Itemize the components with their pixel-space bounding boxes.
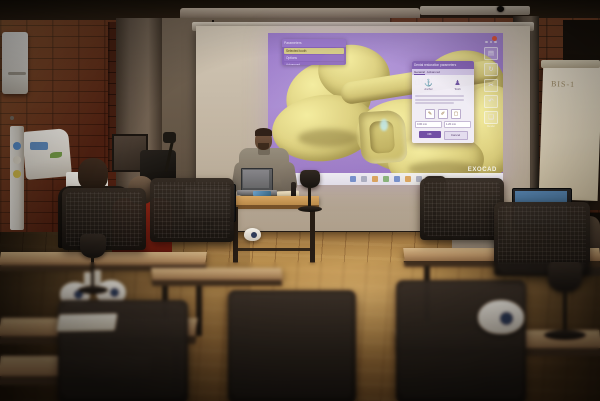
parameters-row-selected[interactable]: Selected tooth <box>284 48 344 54</box>
dialog-description-text <box>412 94 474 107</box>
shape-icon[interactable]: ▢ <box>451 109 461 119</box>
rotate-icon[interactable]: ↻ <box>484 63 498 76</box>
headset-eyepiece-icon <box>500 312 513 325</box>
desk-lamp-shade <box>80 234 106 258</box>
presenter-desk-crossbar <box>233 248 315 251</box>
offset-field[interactable]: 1.20 mm <box>444 121 471 128</box>
chair <box>150 178 234 242</box>
parameters-panel-title: Parameters <box>282 39 346 47</box>
save-icon[interactable]: ▤ <box>484 47 498 60</box>
dialog-icon-row: ⚓ Anchor ♟ Tooth <box>412 75 474 94</box>
projected-software-window: adv Parameters Selected tooth Options Ad… <box>268 33 503 185</box>
model-specular-highlight <box>380 119 388 131</box>
flipchart-clip <box>541 60 600 68</box>
toolbar-drag-handle[interactable] <box>485 41 496 43</box>
white-equipment-cover <box>22 128 72 180</box>
taskbar-icon[interactable] <box>361 176 367 182</box>
classroom-scene: adv Parameters Selected tooth Options Ad… <box>0 0 600 401</box>
flipchart-handwriting: BIS-1 <box>551 79 593 90</box>
taskbar-icon[interactable] <box>405 176 411 182</box>
student-dark-jacket-head <box>78 158 108 190</box>
desk-lamp-shade <box>548 262 582 292</box>
presenter-hair <box>255 128 272 136</box>
chair <box>420 178 504 240</box>
ceiling-rail <box>420 6 530 15</box>
chair <box>228 290 356 401</box>
table-edge <box>152 280 283 286</box>
presenter-desk-leg-right <box>310 207 315 263</box>
parameters-row-advanced[interactable]: Advanced <box>284 62 344 65</box>
scissors-icon[interactable]: ✂ <box>484 79 498 92</box>
ceiling-camera-icon <box>497 6 504 12</box>
taskbar-icon[interactable] <box>372 176 378 182</box>
desk-cup <box>84 272 91 286</box>
vertical-toolbar: ▤ ↻ ✂ ↶ ❑ Render <box>483 41 499 128</box>
undo-icon[interactable]: ↶ <box>484 95 498 108</box>
headset-eyepiece-icon <box>251 232 257 238</box>
model-shadow-1 <box>298 129 358 147</box>
dialog-tool-row: ✎ ✐ ▢ <box>412 107 474 120</box>
ok-button[interactable]: OK <box>419 131 441 138</box>
taskbar-icon[interactable] <box>383 176 389 182</box>
equipment-post <box>10 126 24 230</box>
dispenser-indicator-icon <box>10 116 14 120</box>
desk-lamp-stem <box>563 290 567 334</box>
table-top <box>0 252 207 265</box>
taskbar-icon[interactable] <box>394 176 400 182</box>
image-icon[interactable]: ❑ <box>484 111 498 124</box>
dialog-button-row: OK Cancel <box>412 129 474 142</box>
microphone-head <box>163 132 176 143</box>
post-sticker-icon <box>13 170 21 178</box>
handle-dot <box>490 41 492 43</box>
text-line <box>415 102 454 104</box>
presenter-desk-top <box>229 196 319 205</box>
anchor-caption: Anchor <box>422 88 436 91</box>
dispenser-slot <box>8 72 26 75</box>
cancel-button[interactable]: Cancel <box>444 131 468 140</box>
desk-lamp-stem <box>91 256 94 290</box>
parameters-row-options[interactable]: Options <box>284 55 344 61</box>
text-line <box>415 95 464 97</box>
green-marker <box>50 152 62 158</box>
post-sticker-icon <box>13 156 21 164</box>
presenter-beard <box>258 143 269 150</box>
anchor-icon-button[interactable]: ⚓ Anchor <box>422 80 436 91</box>
tooth-icon-button[interactable]: ♟ Tooth <box>451 80 465 91</box>
table-leg <box>196 286 202 336</box>
tooth-icon: ♟ <box>451 80 465 88</box>
toolbar-caption: Render <box>487 125 495 128</box>
taskbar-icon[interactable] <box>350 176 356 182</box>
dialog-title: Dental restoration parameters <box>412 61 474 69</box>
desk-lamp-base <box>298 206 322 212</box>
parameters-panel[interactable]: Parameters Selected tooth Options Advanc… <box>282 39 346 65</box>
wall-dispenser <box>2 32 28 94</box>
text-line <box>415 99 464 101</box>
headset-eyepiece-icon <box>110 288 119 297</box>
handle-dot <box>494 41 496 43</box>
tab-general[interactable]: General <box>414 70 425 75</box>
handle-dot <box>485 41 487 43</box>
brush-icon[interactable]: ✎ <box>425 109 435 119</box>
anchor-icon: ⚓ <box>422 80 436 88</box>
post-sticker-icon <box>13 142 21 150</box>
pen-icon[interactable]: ✐ <box>438 109 448 119</box>
chair <box>396 280 526 401</box>
desk-lamp-base <box>544 330 586 340</box>
desk-lamp-base <box>78 286 108 294</box>
restoration-parameters-dialog[interactable]: Dental restoration parameters General Ad… <box>412 61 474 143</box>
equipment-label <box>30 142 48 150</box>
table-top <box>151 268 283 280</box>
notebook-paper <box>57 313 118 331</box>
presenter-laptop-display <box>243 170 269 188</box>
tooth-caption: Tooth <box>451 88 465 91</box>
thickness-field[interactable]: 0.00 mm <box>415 121 442 128</box>
dialog-field-row: 0.00 mm 1.20 mm <box>412 120 474 129</box>
tab-advanced[interactable]: Advanced <box>427 70 440 74</box>
